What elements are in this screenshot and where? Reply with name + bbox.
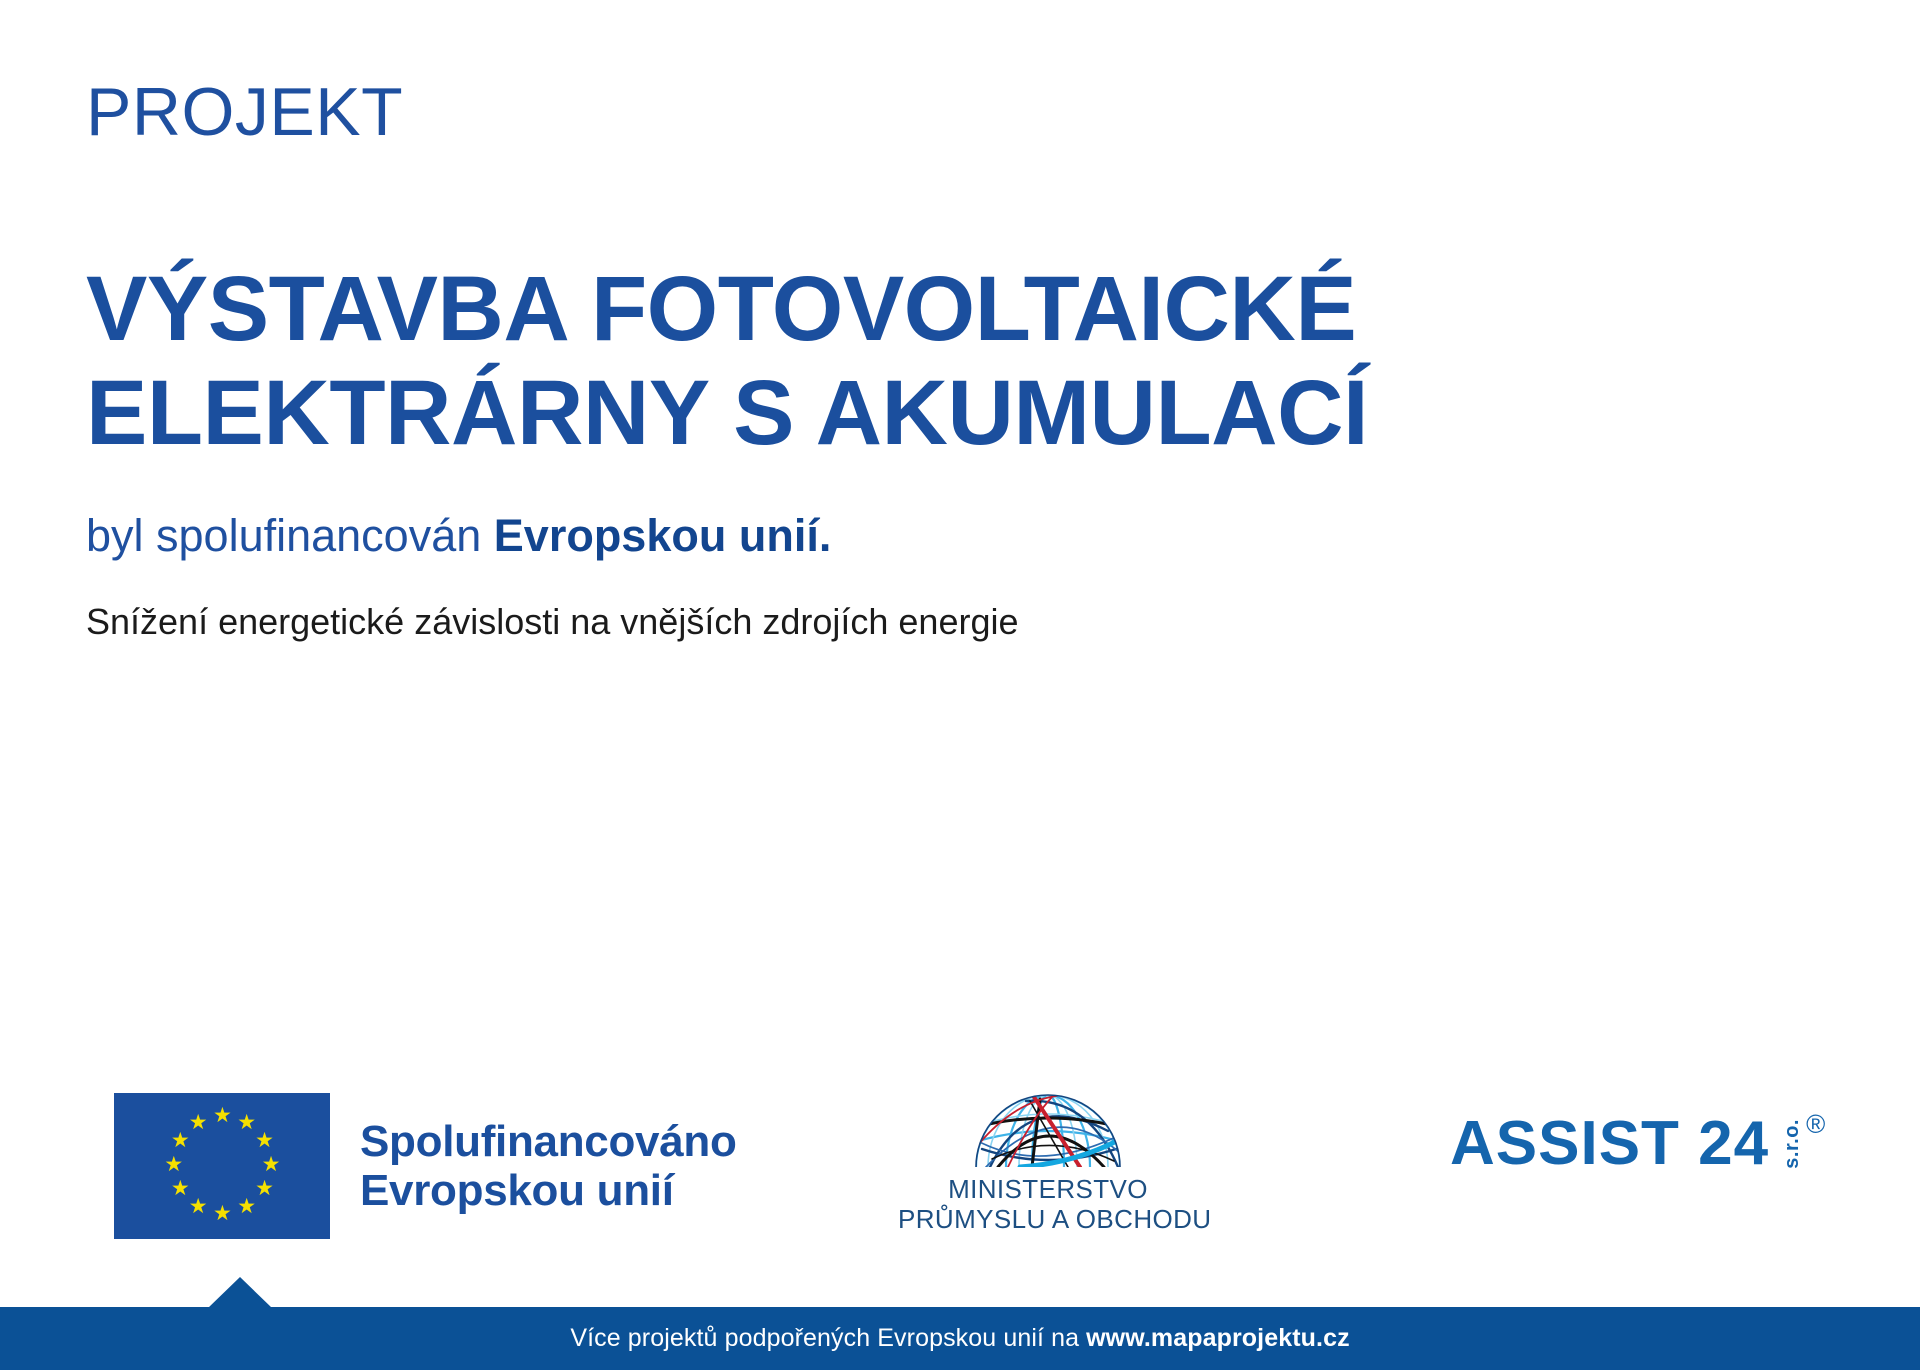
eu-star-icon: ★ — [213, 1107, 231, 1125]
eu-star-icon: ★ — [171, 1132, 189, 1150]
page-title-line-2: ELEKTRÁRNY S AKUMULACÍ — [86, 362, 1536, 466]
eu-star-icon: ★ — [237, 1198, 255, 1216]
poster-canvas: PROJEKT VÝSTAVBA FOTOVOLTAICKÉ ELEKTRÁRN… — [0, 0, 1920, 1370]
bar-pointer-triangle-icon — [208, 1277, 272, 1308]
page-title-line-1: VÝSTAVBA FOTOVOLTAICKÉ — [86, 258, 1536, 362]
logo-strip: ★★★★★★★★★★★★ Spolufinancováno Evropskou … — [0, 1055, 1920, 1265]
globe-network-icon — [968, 1075, 1128, 1171]
eu-star-icon: ★ — [255, 1180, 273, 1198]
ministry-logo-text-line-1: MINISTERSTVO — [898, 1175, 1198, 1205]
eu-cofunding-logo: ★★★★★★★★★★★★ Spolufinancováno Evropskou … — [114, 1093, 737, 1239]
footer-text: Více projektů podpořených Evropskou unií… — [0, 1307, 1920, 1370]
eu-flag-icon: ★★★★★★★★★★★★ — [114, 1093, 330, 1239]
funding-statement-prefix: byl spolufinancován — [86, 510, 494, 561]
company-logo-name: ASSIST 24 — [1450, 1113, 1769, 1175]
footer-url[interactable]: www.mapaprojektu.cz — [1086, 1324, 1350, 1352]
eu-star-icon: ★ — [255, 1132, 273, 1150]
eu-star-icon: ★ — [237, 1114, 255, 1132]
footer-text-prefix: Více projektů podpořených Evropskou unií… — [570, 1324, 1086, 1352]
eu-logo-text: Spolufinancováno Evropskou unií — [360, 1117, 737, 1216]
company-legal-form: s.r.o. — [1781, 1119, 1804, 1169]
eu-logo-text-line-1: Spolufinancováno — [360, 1117, 737, 1166]
eu-star-icon: ★ — [164, 1156, 182, 1174]
eyebrow-label: PROJEKT — [86, 78, 403, 146]
company-logo: ASSIST 24 s.r.o. ® — [1450, 1113, 1825, 1175]
eu-star-icon: ★ — [189, 1114, 207, 1132]
funding-statement-emphasis: Evropskou unií. — [494, 510, 832, 561]
eu-star-icon: ★ — [171, 1180, 189, 1198]
eu-star-icon: ★ — [213, 1205, 231, 1223]
ministry-logo: MINISTERSTVO PRŮMYSLU A OBCHODU — [898, 1075, 1198, 1234]
ministry-logo-text: MINISTERSTVO PRŮMYSLU A OBCHODU — [898, 1175, 1198, 1234]
page-title: VÝSTAVBA FOTOVOLTAICKÉ ELEKTRÁRNY S AKUM… — [86, 258, 1536, 466]
funding-statement: byl spolufinancován Evropskou unií. — [86, 513, 831, 558]
eu-star-icon: ★ — [189, 1198, 207, 1216]
ministry-logo-text-line-2: PRŮMYSLU A OBCHODU — [898, 1205, 1198, 1235]
project-tagline: Snížení energetické závislosti na vnější… — [86, 604, 1019, 640]
eu-star-icon: ★ — [262, 1156, 280, 1174]
footer-bar: Více projektů podpořených Evropskou unií… — [0, 1307, 1920, 1370]
eu-logo-text-line-2: Evropskou unií — [360, 1166, 737, 1215]
registered-trademark-icon: ® — [1806, 1111, 1825, 1137]
